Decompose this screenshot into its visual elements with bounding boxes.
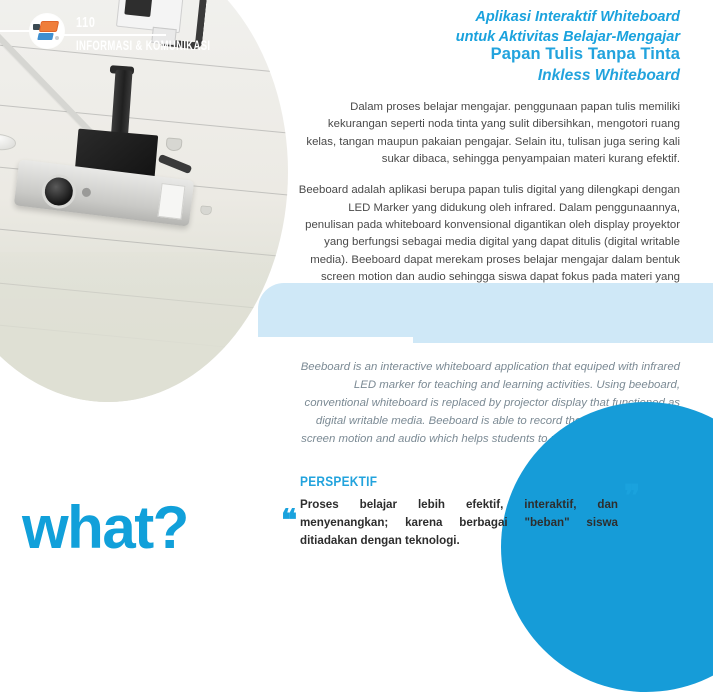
projector-sensor [81, 187, 91, 197]
banner-line-1: Aplikasi Interaktif Whiteboard [456, 8, 680, 28]
page-header: 110 INFORMASI & KOMUNIKASI [0, 14, 230, 58]
highlight-banner [258, 283, 713, 337]
quote-close-icon: ❞ [624, 488, 637, 507]
highlight-banner-tail [413, 337, 713, 343]
header-leader-line [0, 30, 34, 32]
article-column: Papan Tulis Tanpa Tinta Inkless Whiteboa… [298, 44, 680, 304]
perspektif-heading: PERSPEKTIF [300, 474, 617, 489]
photo-background [0, 0, 288, 402]
banner-line-2: untuk Aktivitas Belajar-Mengajar [456, 28, 680, 48]
what-headline: what? [22, 498, 188, 558]
page-number: 110 [76, 14, 96, 31]
header-category: INFORMASI & KOMUNIKASI [76, 37, 210, 53]
badge-device-orange [39, 21, 59, 32]
header-divider [62, 34, 166, 36]
projector-arm [158, 154, 193, 174]
badge-dot [55, 36, 59, 40]
sprinkler-head [200, 205, 212, 215]
projector-lens [40, 173, 78, 211]
ceiling-projector-photo [0, 0, 288, 402]
sprinkler-head [165, 137, 182, 151]
highlight-banner-text: Aplikasi Interaktif Whiteboard untuk Akt… [456, 8, 680, 47]
devices-badge-icon [30, 14, 64, 48]
projector-label [158, 183, 186, 220]
smoke-detector [0, 133, 17, 151]
badge-device-blue [37, 33, 53, 40]
wall-shadow [0, 252, 288, 402]
article-title-english: Inkless Whiteboard [298, 66, 680, 85]
article-paragraph-1: Dalam proses belajar mengajar. penggunaa… [298, 99, 680, 168]
quote-open-icon: ❞ [284, 496, 297, 515]
perspektif-body: Proses belajar lebih efektif, interaktif… [300, 496, 618, 550]
projector-body [14, 159, 194, 226]
perspektif-block: PERSPEKTIF ❞ ❞ Proses belajar lebih efek… [300, 474, 660, 550]
